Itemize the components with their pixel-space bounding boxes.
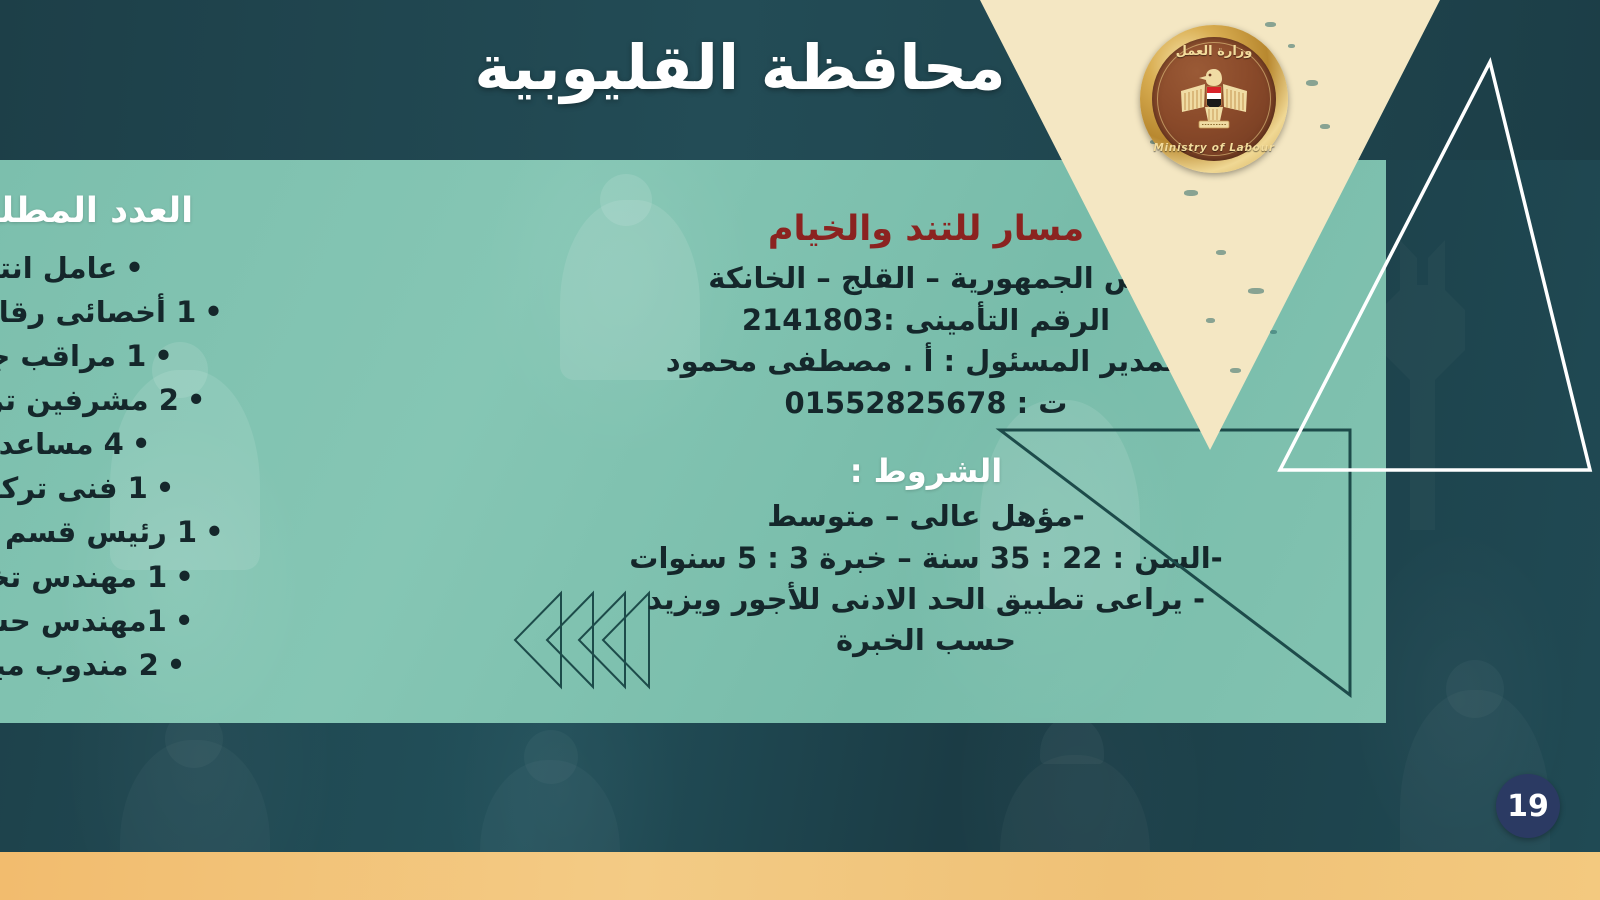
helmet-silhouette (1040, 716, 1104, 764)
required-positions-column: العدد المطلوب / •عامل انتاج •1 أخصائى رق… (0, 190, 256, 687)
bullet-icon: • (187, 386, 206, 415)
list-item: •1 فنى تركيبات (0, 466, 256, 510)
employer-details-column: مسار للتند والخيام ش الجمهورية – القلج –… (616, 208, 1236, 661)
list-item: •1 مهندس تخطيط (0, 555, 256, 599)
list-item-label: 2 مشرفين تركيبات (0, 383, 179, 417)
condition-age-experience: -السن : 22 : 35 سنة – خبرة 3 : 5 سنوات (616, 538, 1236, 579)
content-panel: العدد المطلوب / •عامل انتاج •1 أخصائى رق… (0, 160, 1386, 723)
required-positions-list: •عامل انتاج •1 أخصائى رقابة جودة •1 مراق… (0, 246, 256, 687)
list-item-label: 1 مراقب جودة (0, 339, 146, 373)
bullet-icon: • (175, 563, 194, 592)
slide-canvas: محافظة القليوبية العدد المطلوب / •عامل ا… (0, 0, 1600, 900)
header-band: محافظة القليوبية (0, 0, 1600, 160)
company-name: مسار للتند والخيام (616, 208, 1236, 252)
condition-wage-2: حسب الخبرة (616, 620, 1236, 661)
list-item: •1 رئيس قسم هندسى (0, 510, 256, 554)
worker-head-silhouette (524, 730, 578, 784)
list-item-label: 1 مهندس تخطيط (0, 560, 167, 594)
page-number-badge: 19 (1496, 774, 1560, 838)
bullet-icon: • (132, 430, 151, 459)
worker-head-silhouette (1446, 660, 1504, 718)
condition-wage-1: - يراعى تطبيق الحد الادنى للأجور ويزيد (616, 579, 1236, 620)
list-item-label: عامل انتاج (0, 251, 117, 285)
list-item-label: 4 مساعدين (0, 427, 124, 461)
required-positions-heading: العدد المطلوب / (0, 190, 256, 232)
contact-phone: ت : 01552825678 (616, 383, 1236, 425)
bullet-icon: • (154, 342, 173, 371)
page-title: محافظة القليوبية (0, 34, 1600, 102)
bullet-icon: • (167, 651, 186, 680)
list-item: •عامل انتاج (0, 246, 256, 290)
bullet-icon: • (175, 607, 194, 636)
list-item-label: 1 فنى تركيبات (0, 471, 148, 505)
company-address: ش الجمهورية – القلج – الخانكة (616, 258, 1236, 300)
condition-qualification: -مؤهل عالى – متوسط (616, 496, 1236, 537)
list-item-label: 2 مندوب مبيعات (0, 648, 159, 682)
bullet-icon: • (205, 518, 224, 547)
conditions-heading: الشروط : (616, 451, 1236, 493)
list-item: •1مهندس حسابات (0, 599, 256, 643)
list-item: •2 مشرفين تركيبات (0, 378, 256, 422)
responsible-manager: المدير المسئول : أ . مصطفى محمود (616, 341, 1236, 383)
list-item: •1 أخصائى رقابة جودة (0, 290, 256, 334)
bullet-icon: • (156, 474, 175, 503)
bottom-accent-strip (0, 852, 1600, 900)
list-item-label: 1مهندس حسابات (0, 604, 167, 638)
list-item: •4 مساعدين (0, 422, 256, 466)
bullet-icon: • (204, 298, 223, 327)
list-item-label: 1 رئيس قسم هندسى (0, 515, 197, 549)
list-item: •2 مندوب مبيعات (0, 643, 256, 687)
insurance-number: الرقم التأمينى :2141803 (616, 300, 1236, 342)
bullet-icon: • (125, 254, 144, 283)
list-item-label: 1 أخصائى رقابة جودة (0, 295, 196, 329)
list-item: •1 مراقب جودة (0, 334, 256, 378)
